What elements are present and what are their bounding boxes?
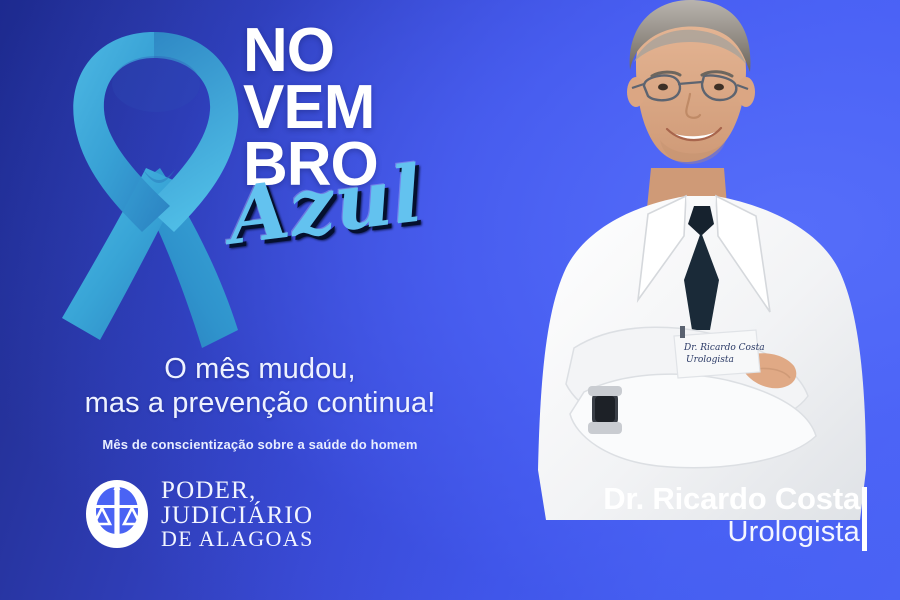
name-accent-bar xyxy=(862,487,867,551)
subheadline: Mês de conscientização sobre a saúde do … xyxy=(0,437,520,452)
doctor-name: Dr. Ricardo Costa xyxy=(603,482,860,516)
svg-text:Urologista: Urologista xyxy=(686,355,734,365)
logo-line-2: JUDICIÁRIO xyxy=(161,503,314,528)
doctor-name-block: Dr. Ricardo Costa Urologista xyxy=(603,482,860,549)
doctor-specialty: Urologista xyxy=(603,516,860,548)
logo-line-1: PODER, xyxy=(161,478,314,503)
headline-line-1: O mês mudou, xyxy=(0,352,520,386)
headline: O mês mudou, mas a prevenção continua! xyxy=(0,352,520,420)
scales-of-justice-emblem-icon xyxy=(84,478,150,550)
logo-line-3: DE ALAGOAS xyxy=(161,528,314,550)
svg-text:Dr. Ricardo Costa: Dr. Ricardo Costa xyxy=(683,343,765,353)
judiciary-logo-text: PODER, JUDICIÁRIO DE ALAGOAS xyxy=(161,478,314,550)
judiciary-logo: PODER, JUDICIÁRIO DE ALAGOAS xyxy=(84,478,314,550)
campaign-title-line-1: NO xyxy=(243,22,533,79)
campaign-title-line-2: VEM xyxy=(243,79,533,136)
headline-line-2: mas a prevenção continua! xyxy=(0,386,520,420)
doctor-photo: Dr. Ricardo Costa Urologista xyxy=(488,0,900,520)
novembro-azul-poster: NO VEM BRO Azul O mês mudou, mas a preve… xyxy=(0,0,900,600)
